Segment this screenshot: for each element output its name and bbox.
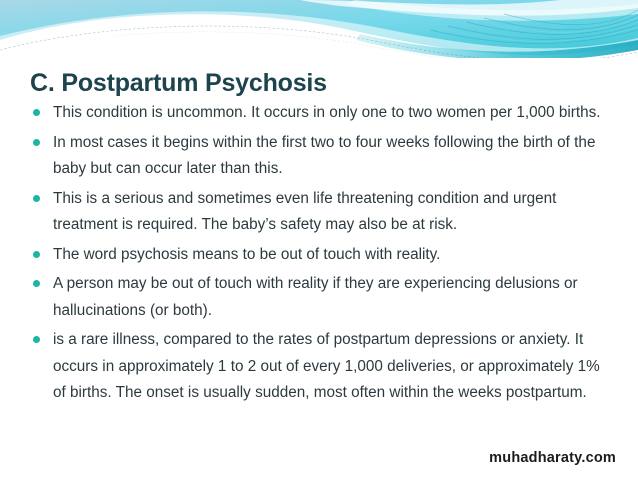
list-item: In most cases it begins within the first… bbox=[31, 130, 611, 183]
slide: C. Postpartum Psychosis This condition i… bbox=[0, 0, 638, 479]
list-item-text: This condition is uncommon. It occurs in… bbox=[53, 100, 611, 127]
bullet-dot-icon bbox=[33, 139, 40, 146]
list-item-text: This is a serious and sometimes even lif… bbox=[53, 186, 611, 239]
list-item-text: In most cases it begins within the first… bbox=[53, 130, 611, 183]
list-item-text: A person may be out of touch with realit… bbox=[53, 271, 611, 324]
bullet-dot-icon bbox=[33, 195, 40, 202]
list-item: This is a serious and sometimes even lif… bbox=[31, 186, 611, 239]
list-item-text: is a rare illness, compared to the rates… bbox=[53, 327, 611, 407]
list-item: A person may be out of touch with realit… bbox=[31, 271, 611, 324]
bullet-list: This condition is uncommon. It occurs in… bbox=[31, 100, 611, 410]
list-item-text: The word psychosis means to be out of to… bbox=[53, 242, 611, 269]
bullet-dot-icon bbox=[33, 109, 40, 116]
list-item: is a rare illness, compared to the rates… bbox=[31, 327, 611, 407]
footer-watermark: muhadharaty.com bbox=[489, 450, 616, 466]
page-title: C. Postpartum Psychosis bbox=[30, 69, 327, 98]
list-item: The word psychosis means to be out of to… bbox=[31, 242, 611, 269]
bullet-dot-icon bbox=[33, 280, 40, 287]
list-item: This condition is uncommon. It occurs in… bbox=[31, 100, 611, 127]
wave-banner-decoration bbox=[0, 0, 638, 58]
bullet-dot-icon bbox=[33, 251, 40, 258]
bullet-dot-icon bbox=[33, 336, 40, 343]
